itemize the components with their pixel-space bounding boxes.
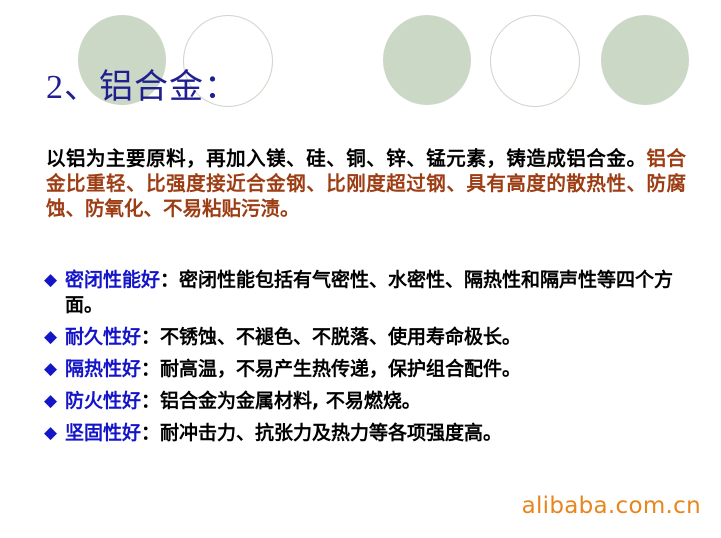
diamond-bullet-icon: ◆ (44, 389, 57, 414)
decorative-circle-4 (490, 15, 580, 107)
diamond-bullet-icon: ◆ (44, 357, 57, 382)
decorative-circle-5 (601, 15, 689, 105)
intro-paragraph: 以铝为主要原料，再加入镁、硅、铜、锌、锰元素，铸造成铝合金。铝合金比重轻、比强度… (46, 146, 686, 221)
bullet-body-text: ：不锈蚀、不褪色、不脱落、使用寿命极长。 (141, 326, 521, 348)
list-item: ◆防火性好：铝合金为金属材料, 不易燃烧。 (44, 389, 694, 414)
bullet-body-text: ：耐高温，不易产生热传递，保护组合配件。 (141, 358, 521, 380)
bullet-lead-label: 坚固性好 (65, 422, 141, 444)
diamond-bullet-icon: ◆ (44, 325, 57, 350)
list-item: ◆坚固性好：耐冲击力、抗张力及热力等各项强度高。 (44, 421, 694, 446)
slide-canvas: 2、铝合金： 以铝为主要原料，再加入镁、硅、铜、锌、锰元素，铸造成铝合金。铝合金… (0, 0, 721, 538)
bullet-lead-label: 耐久性好 (65, 326, 141, 348)
bullet-lead-label: 密闭性能好 (65, 269, 160, 291)
decorative-circle-3 (383, 15, 471, 105)
list-item: ◆耐久性好：不锈蚀、不褪色、不脱落、使用寿命极长。 (44, 325, 694, 350)
bullet-lead-label: 防火性好 (65, 390, 141, 412)
bullet-body-text: ：铝合金为金属材料, 不易燃烧。 (141, 390, 421, 412)
list-item: ◆隔热性好：耐高温，不易产生热传递，保护组合配件。 (44, 357, 694, 382)
diamond-bullet-icon: ◆ (44, 268, 57, 293)
intro-black-text: 以铝为主要原料，再加入镁、硅、铜、锌、锰元素，铸造成铝合金。 (46, 147, 646, 170)
feature-bullet-list: ◆密闭性能好：密闭性能包括有气密性、水密性、隔热性和隔声性等四个方面。 ◆耐久性… (44, 268, 694, 453)
bullet-body-text: ：耐冲击力、抗张力及热力等各项强度高。 (141, 422, 502, 444)
slide-title: 2、铝合金： (46, 68, 239, 108)
list-item: ◆密闭性能好：密闭性能包括有气密性、水密性、隔热性和隔声性等四个方面。 (44, 268, 694, 318)
diamond-bullet-icon: ◆ (44, 421, 57, 446)
footer-watermark: alibaba.com.cn (522, 492, 701, 520)
bullet-lead-label: 隔热性好 (65, 358, 141, 380)
